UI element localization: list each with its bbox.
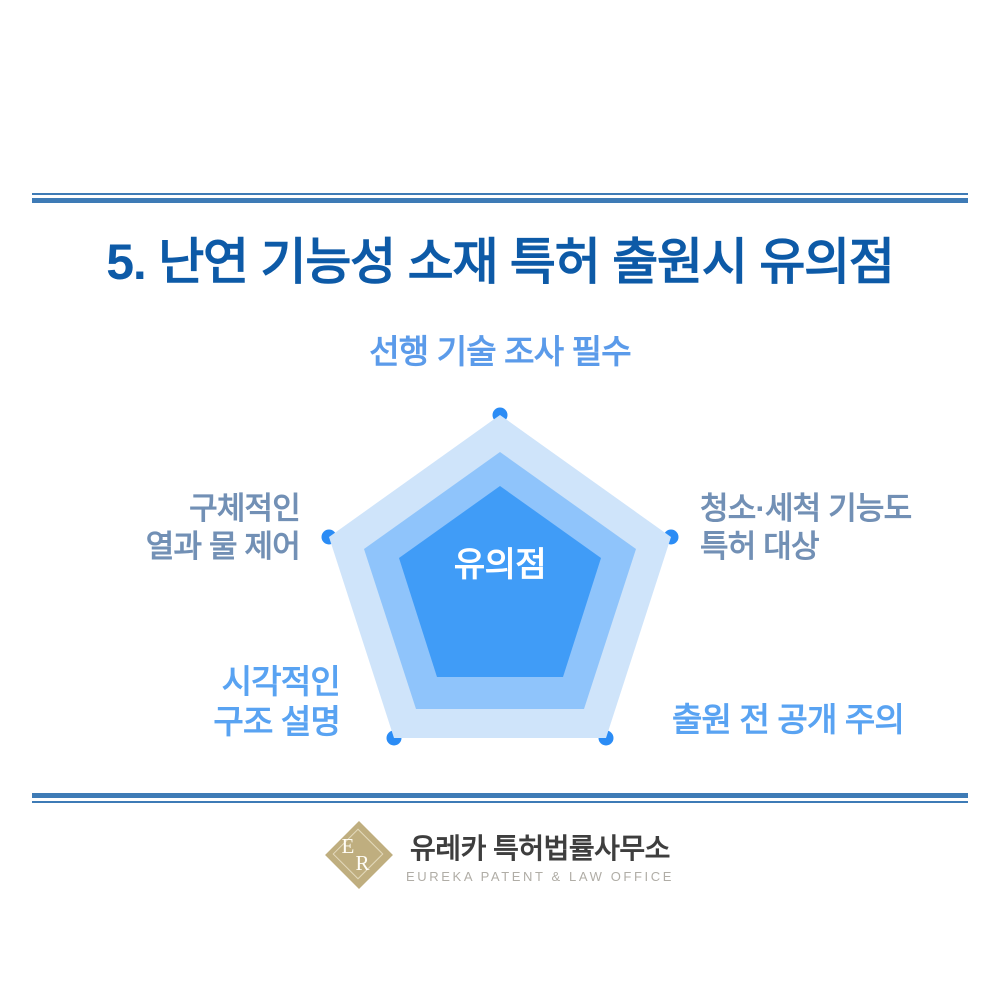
node-label-bottom-left-line2: 구조 설명 — [20, 702, 340, 742]
node-label-right-line1: 청소·세척 기능도 — [700, 490, 911, 528]
node-label-bottom-left: 시각적인 구조 설명 — [20, 662, 340, 743]
node-label-right: 청소·세척 기능도 특허 대상 — [700, 490, 911, 566]
node-label-left-line2: 열과 물 제어 — [20, 528, 300, 566]
logo-name-korean: 유레카 특허법률사무소 — [410, 827, 670, 867]
top-divider-thick-line — [32, 198, 968, 203]
eureka-diamond-icon: E R — [326, 822, 392, 888]
node-label-top: 선행 기술 조사 필수 — [0, 332, 1000, 372]
node-label-right-line2: 특허 대상 — [700, 528, 911, 566]
node-label-left-line1: 구체적인 — [20, 490, 300, 528]
node-label-left: 구체적인 열과 물 제어 — [20, 490, 300, 566]
bottom-divider — [32, 793, 968, 803]
bottom-divider-thin-line — [32, 801, 968, 803]
top-divider — [32, 193, 968, 203]
node-label-bottom-right: 출원 전 공개 주의 — [672, 700, 904, 740]
footer-logo: E R 유레카 특허법률사무소 EUREKA PATENT & LAW OFFI… — [0, 822, 1000, 888]
slide-canvas: 5. 난연 기능성 소재 특허 출원시 유의점 유의점 선행 기술 조사 필수 … — [0, 0, 1000, 1000]
pentagon-radar-diagram: 유의점 선행 기술 조사 필수 청소·세척 기능도 특허 대상 구체적인 열과 … — [0, 300, 1000, 790]
logo-text-block: 유레카 특허법률사무소 EUREKA PATENT & LAW OFFICE — [406, 827, 674, 884]
page-title: 5. 난연 기능성 소재 특허 출원시 유의점 — [0, 222, 1000, 294]
node-label-bottom-left-line1: 시각적인 — [20, 662, 340, 702]
logo-name-english: EUREKA PATENT & LAW OFFICE — [406, 869, 674, 884]
monogram: E R — [326, 822, 392, 888]
monogram-letter-r: R — [356, 855, 370, 872]
